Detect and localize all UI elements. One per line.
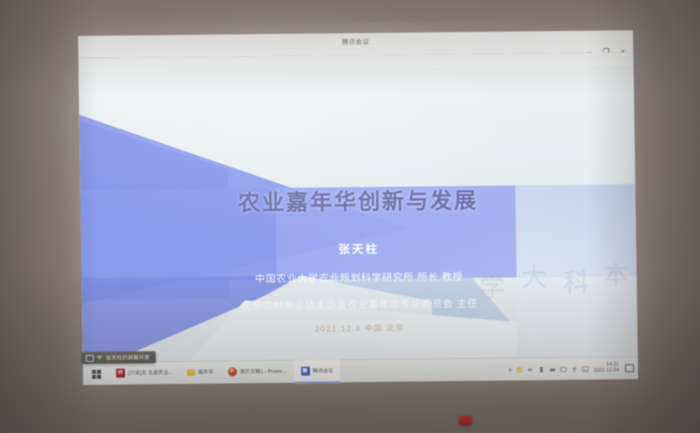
presentation-slide: 本 科 大 学 农业嘉年华创新与发展 张天柱 中国农业大学农业规划科学研究所 所… <box>79 66 638 374</box>
screen-share-label: 张天柱的屏幕共享 <box>106 353 150 361</box>
chevron-up-icon[interactable]: ∧ <box>508 366 513 373</box>
powerpoint-icon: P <box>227 367 236 376</box>
shared-screen-content: 中国农业大学 China Agricultural University 正在讲… <box>78 52 638 384</box>
battery-icon[interactable] <box>538 366 545 373</box>
taskbar-clock[interactable]: 14:21 2021-12-04 <box>593 363 621 375</box>
window-title: 腾讯会议 <box>78 33 633 49</box>
monitor-icon <box>86 354 94 361</box>
onedrive-icon[interactable] <box>582 365 589 372</box>
volume-icon[interactable] <box>527 366 534 373</box>
start-button[interactable] <box>83 363 109 385</box>
folder-icon <box>187 368 195 375</box>
windows-logo-icon <box>91 369 100 378</box>
clock-date: 2021-12-04 <box>593 368 619 374</box>
taskbar-item-label: 演示文稿1 - Power... <box>239 367 286 374</box>
word-icon: W <box>116 368 125 377</box>
tencent-meeting-icon: ▣ <box>300 366 309 375</box>
taskbar-item-label: 嘉年华 <box>198 368 214 375</box>
display-icon[interactable] <box>560 365 567 372</box>
download-arrow-icon <box>97 356 103 360</box>
taskbar-item-word[interactable]: W [只读]无 名居农业... <box>109 361 180 386</box>
network-icon[interactable] <box>549 366 556 373</box>
red-object-on-wall <box>459 416 472 425</box>
taskbar-item-label: [只读]无 名居农业... <box>128 369 173 376</box>
antivirus-icon[interactable] <box>516 366 523 373</box>
slide-title: 农业嘉年华创新与发展 <box>80 181 635 219</box>
action-center-icon[interactable] <box>625 364 634 372</box>
ime-icon[interactable] <box>571 365 578 372</box>
system-tray: ∧ 14:21 2021-12-04 <box>508 357 638 380</box>
screen-share-banner[interactable]: 张天柱的屏幕共享 <box>82 351 156 364</box>
taskbar-item-label: 腾讯会议 <box>312 367 333 374</box>
taskbar-item-tencent-meeting[interactable]: ▣ 腾讯会议 <box>293 359 340 383</box>
taskbar-item-powerpoint[interactable]: P 演示文稿1 - Power... <box>220 360 293 385</box>
taskbar-item-folder[interactable]: 嘉年华 <box>180 361 221 385</box>
taskbar-items: W [只读]无 名居农业... 嘉年华 P 演示文稿1 - Power... ▣… <box>109 360 341 384</box>
projection-screen: 腾讯会议 – ❐ × 中国农业大学 China Agricultural Uni… <box>78 30 638 384</box>
